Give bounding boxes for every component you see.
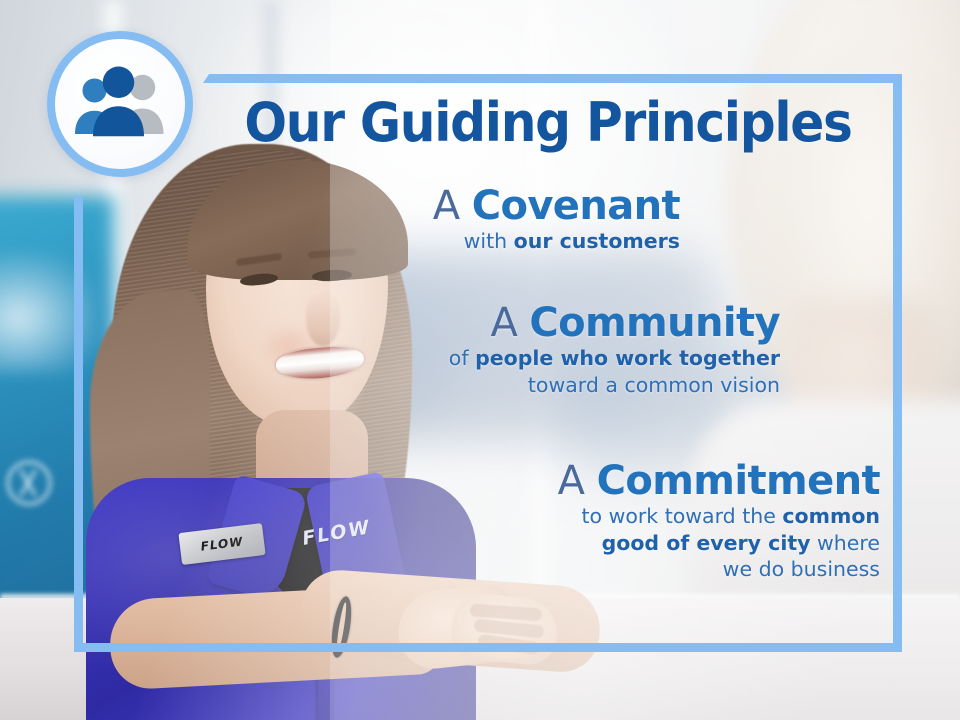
principle-covenant: A Covenant with our customers xyxy=(300,185,680,255)
woman-nose xyxy=(306,292,340,346)
principle-word: Commitment xyxy=(597,458,880,504)
people-group-icon xyxy=(72,65,168,143)
principle-heading: A Covenant xyxy=(300,185,680,228)
guiding-principles-graphic: FLOW FLOW xyxy=(0,0,960,720)
subtext-line: toward a common vision xyxy=(340,372,780,399)
principle-word: Community xyxy=(529,300,780,346)
subtext-line: with our customers xyxy=(300,228,680,255)
principle-article: A xyxy=(558,458,597,504)
vw-logo-icon xyxy=(6,460,52,506)
principle-word: Covenant xyxy=(472,183,680,229)
subtext-line: good of every city where xyxy=(380,530,880,557)
principle-article: A xyxy=(490,300,529,346)
principle-commitment: A Commitment to work toward the common g… xyxy=(380,460,880,583)
subtext-line: we do business xyxy=(380,556,880,583)
principle-article: A xyxy=(433,183,472,229)
principle-heading: A Commitment xyxy=(380,460,880,503)
name-badge-text: FLOW xyxy=(200,534,244,553)
subtext-line: of people who work together xyxy=(340,345,780,372)
principle-community: A Community of people who work together … xyxy=(340,302,780,398)
principle-subtext: with our customers xyxy=(300,228,680,255)
principle-heading: A Community xyxy=(340,302,780,345)
principle-subtext: to work toward the common good of every … xyxy=(380,503,880,583)
page-title: Our Guiding Principles xyxy=(241,95,855,150)
people-badge xyxy=(47,31,193,177)
principle-subtext: of people who work together toward a com… xyxy=(340,345,780,398)
subtext-line: to work toward the common xyxy=(380,503,880,530)
